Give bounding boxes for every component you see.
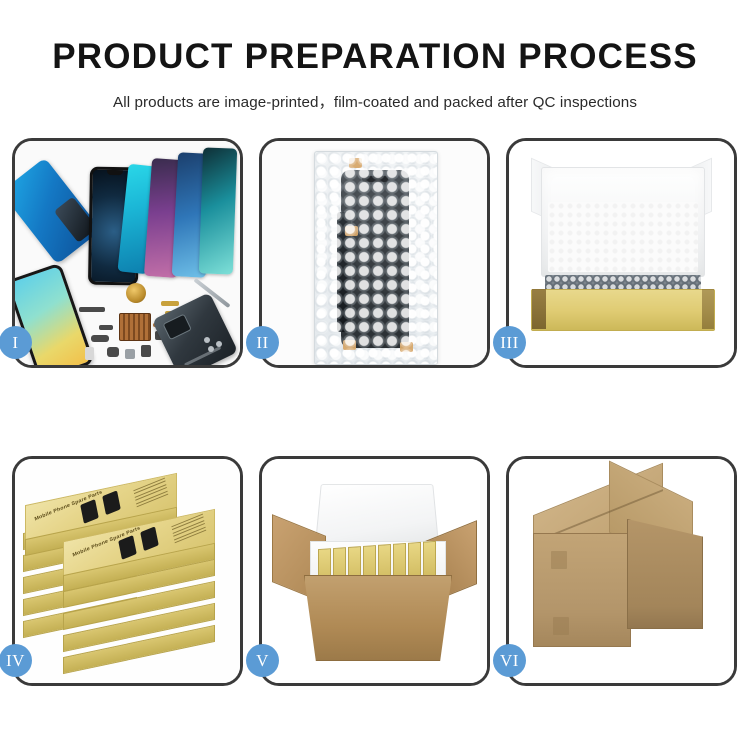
process-step-panel-6[interactable]: VI <box>506 456 737 686</box>
step-badge-6: VI <box>493 644 526 677</box>
bubble-wrapped-screen-illustration <box>262 141 487 365</box>
carton-right-face-icon <box>627 519 703 629</box>
foam-box-lid-icon <box>315 484 439 545</box>
process-step-panel-5[interactable]: V <box>259 456 490 686</box>
step-2-image <box>262 141 487 365</box>
process-step-panel-2[interactable]: II <box>259 138 490 368</box>
tape-piece-icon <box>349 158 362 168</box>
page-subtitle: All products are image-printed，film-coat… <box>0 90 750 112</box>
process-step-grid: I II <box>12 138 738 686</box>
phones-and-parts-illustration <box>15 141 240 365</box>
carton-front-face-icon <box>533 533 631 647</box>
step-6-image <box>509 459 734 683</box>
chip-grid-icon <box>119 313 151 341</box>
tape-piece-icon <box>400 342 413 352</box>
step-5-image <box>262 459 487 683</box>
carton-tape-mark-icon <box>553 617 569 635</box>
part-button-icon <box>141 345 151 357</box>
box-lid-phone-image <box>118 535 137 560</box>
part-connector-icon <box>99 325 113 330</box>
yellow-box-base-icon <box>531 289 715 331</box>
box-lid-phone-image <box>140 526 159 551</box>
step-badge-4: IV <box>0 644 32 677</box>
stacked-yellow-boxes-illustration: Mobile Phone Spare Parts Mobile Phone Sp… <box>15 459 240 683</box>
step-badge-1: I <box>0 326 32 359</box>
bubble-wrap-bag-icon <box>314 151 438 365</box>
screws-icon <box>204 337 230 351</box>
part-strip-icon <box>79 307 105 312</box>
open-foam-box-illustration <box>509 141 734 365</box>
wrapped-screen-icon <box>341 170 409 348</box>
box-lid-spec-lines <box>171 514 206 546</box>
carton-tape-mark-icon <box>551 551 567 569</box>
box-lid-phone-image <box>80 499 99 524</box>
part-gold-flex-icon <box>161 301 179 306</box>
process-step-panel-3[interactable]: III <box>506 138 737 368</box>
process-step-panel-1[interactable]: I <box>12 138 243 368</box>
phone-display-teal-icon <box>199 147 237 274</box>
sealed-carton-illustration <box>509 459 734 683</box>
process-step-panel-4[interactable]: Mobile Phone Spare Parts Mobile Phone Sp… <box>12 456 243 686</box>
foam-lid-icon <box>541 167 705 277</box>
step-1-image <box>15 141 240 365</box>
part-cable-icon <box>91 335 109 342</box>
page-title: PRODUCT PREPARATION PROCESS <box>0 38 750 77</box>
tape-piece-icon <box>345 226 358 236</box>
step-3-image <box>509 141 734 365</box>
tape-piece-icon <box>343 340 356 350</box>
speaker-coil-icon <box>126 283 146 303</box>
part-sim-tray-icon <box>85 347 94 360</box>
step-badge-2: II <box>246 326 279 359</box>
carton-body-icon <box>304 575 452 661</box>
step-4-image: Mobile Phone Spare Parts Mobile Phone Sp… <box>15 459 240 683</box>
box-lid-spec-lines <box>133 478 168 510</box>
step-badge-5: V <box>246 644 279 677</box>
step-badge-3: III <box>493 326 526 359</box>
part-camera-icon <box>107 347 119 357</box>
box-lid-phone-image <box>102 490 121 515</box>
page-header: PRODUCT PREPARATION PROCESS All products… <box>0 0 750 112</box>
carton-loading-illustration <box>262 459 487 683</box>
part-shield-icon <box>125 349 135 359</box>
